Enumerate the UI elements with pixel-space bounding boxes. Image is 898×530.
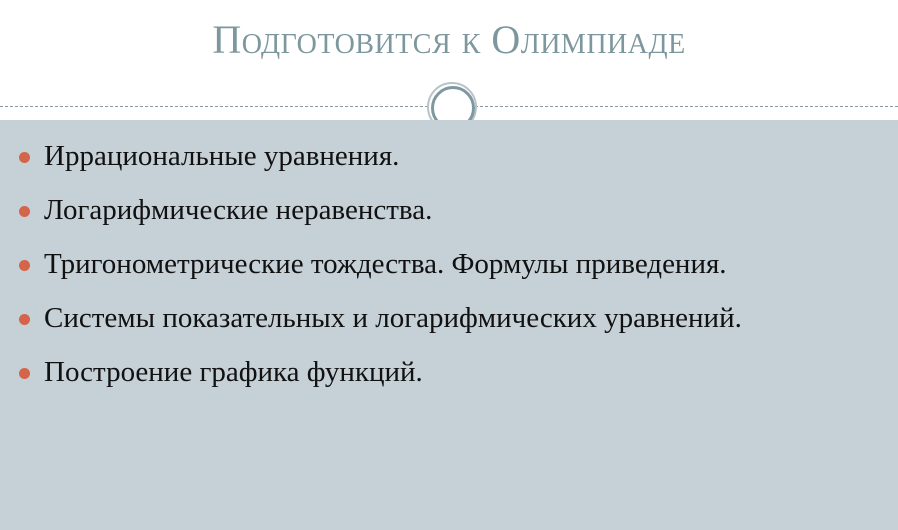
- bullet-dot-icon: [19, 152, 30, 163]
- bullet-dot-icon: [19, 260, 30, 271]
- list-item-label: Тригонометрические тождества. Формулы пр…: [44, 242, 870, 287]
- list-item-label: Системы показательных и логарифмических …: [44, 296, 870, 341]
- page-title: Подготовится к Олимпиаде: [0, 16, 898, 64]
- list-item: Системы показательных и логарифмических …: [0, 296, 898, 341]
- presentation-slide: Подготовится к Олимпиаде Иррациональные …: [0, 0, 898, 530]
- bullet-dot-icon: [19, 314, 30, 325]
- list-item: Тригонометрические тождества. Формулы пр…: [0, 242, 898, 287]
- list-item-label: Иррациональные уравнения.: [44, 134, 870, 179]
- list-item: Логарифмические неравенства.: [0, 188, 898, 233]
- list-item-label: Логарифмические неравенства.: [44, 188, 870, 233]
- slide-body: Иррациональные уравнения. Логарифмически…: [0, 120, 898, 530]
- bullet-list: Иррациональные уравнения. Логарифмически…: [0, 134, 898, 404]
- list-item-label: Построение графика функций.: [44, 350, 870, 395]
- bullet-dot-icon: [19, 206, 30, 217]
- list-item: Построение графика функций.: [0, 350, 898, 395]
- bullet-dot-icon: [19, 368, 30, 379]
- list-item: Иррациональные уравнения.: [0, 134, 898, 179]
